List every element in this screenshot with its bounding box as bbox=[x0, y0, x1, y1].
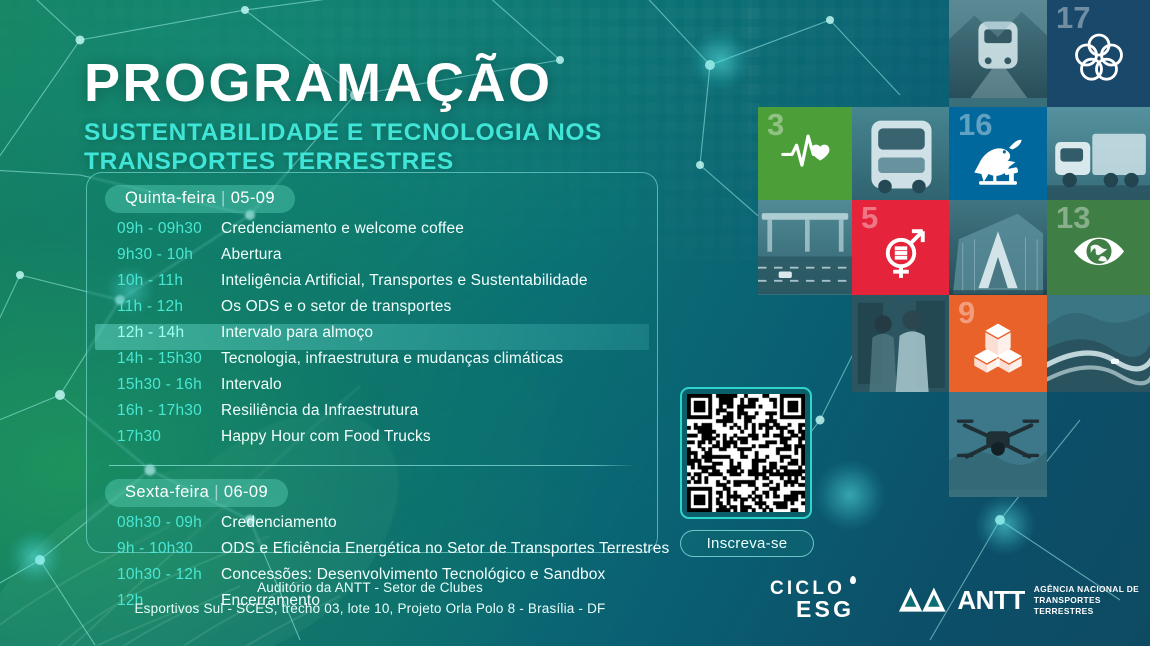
pill-separator: | bbox=[216, 189, 231, 207]
session-time: 11h - 12h bbox=[117, 298, 221, 316]
session-title: Intervalo para almoço bbox=[221, 324, 373, 342]
session-time: 9h - 10h30 bbox=[117, 540, 221, 558]
session-time: 10h - 11h bbox=[117, 272, 221, 290]
session-time: 14h - 15h30 bbox=[117, 350, 221, 368]
venue-address: Auditório da ANTT - Setor de Clubes Espo… bbox=[70, 578, 670, 620]
antt-tagline: AGÊNCIA NACIONAL DE TRANSPORTES TERRESTR… bbox=[1034, 584, 1150, 616]
session-title: Resiliência da Infraestrutura bbox=[221, 402, 418, 420]
venue-line-2: Esportivos Sul - SCES, trecho 03, lote 1… bbox=[70, 599, 670, 620]
antt-tagline-2: TRANSPORTES TERRESTRES bbox=[1034, 595, 1150, 617]
session-title: Abertura bbox=[221, 246, 282, 264]
poster-canvas: 173165139 PROGRAMAÇÃO SUSTENTABILIDADE e… bbox=[0, 0, 1150, 646]
session-time: 9h30 - 10h bbox=[117, 246, 221, 264]
day-date: 06-09 bbox=[224, 483, 268, 501]
session-time: 17h30 bbox=[117, 428, 221, 446]
session-time: 12h - 14h bbox=[117, 324, 221, 342]
esg-word: ESG bbox=[770, 598, 854, 620]
schedule-card: Quinta-feira|05-0909h - 09h30Credenciame… bbox=[86, 172, 658, 553]
session-time: 09h - 09h30 bbox=[117, 220, 221, 238]
schedule-row: 17h30Happy Hour com Food Trucks bbox=[105, 428, 639, 454]
signup-block: Inscreva-se bbox=[680, 387, 820, 557]
antt-logo: ANTT AGÊNCIA NACIONAL DE TRANSPORTES TER… bbox=[898, 583, 1150, 617]
schedule-row: 9h - 10h30ODS e Eficiência Energética no… bbox=[105, 540, 639, 566]
session-title: ODS e Eficiência Energética no Setor de … bbox=[221, 540, 669, 558]
day-date: 05-09 bbox=[231, 189, 275, 207]
session-time: 16h - 17h30 bbox=[117, 402, 221, 420]
schedule-row: 12h - 14hIntervalo para almoço bbox=[95, 324, 649, 350]
schedule-row: 16h - 17h30Resiliência da Infraestrutura bbox=[105, 402, 639, 428]
schedule-row: 09h - 09h30Credenciamento e welcome coff… bbox=[105, 220, 639, 246]
schedule-row: 15h30 - 16hIntervalo bbox=[105, 376, 639, 402]
session-time: 08h30 - 09h bbox=[117, 514, 221, 532]
day-label: Sexta-feira bbox=[125, 483, 209, 501]
session-time: 15h30 - 16h bbox=[117, 376, 221, 394]
schedule-rows: 09h - 09h30Credenciamento e welcome coff… bbox=[105, 220, 639, 454]
ciclo-line-1: CICLO bbox=[770, 580, 854, 598]
schedule-row: 11h - 12hOs ODS e o setor de transportes bbox=[105, 298, 639, 324]
schedule-row: 14h - 15h30Tecnologia, infraestrutura e … bbox=[105, 350, 639, 376]
schedule-row: 10h - 11hInteligência Artificial, Transp… bbox=[105, 272, 639, 298]
session-title: Happy Hour com Food Trucks bbox=[221, 428, 431, 446]
schedule-row: 9h30 - 10hAbertura bbox=[105, 246, 639, 272]
antt-triangle-icon bbox=[898, 583, 948, 617]
page-title: PROGRAMAÇÃO bbox=[84, 56, 602, 110]
session-title: Tecnologia, infraestrutura e mudanças cl… bbox=[221, 350, 563, 368]
subscribe-button[interactable]: Inscreva-se bbox=[680, 530, 814, 557]
antt-wordmark: ANTT bbox=[957, 585, 1024, 616]
subtitle-line-1: SUSTENTABILIDADE e TECNOLOGIA NOS bbox=[84, 119, 602, 148]
schedule-row: 08h30 - 09hCredenciamento bbox=[105, 514, 639, 540]
day-pill-1: Quinta-feira|05-09 bbox=[105, 185, 295, 213]
day-pill-2: Sexta-feira|06-09 bbox=[105, 479, 288, 507]
session-title: Credenciamento e welcome coffee bbox=[221, 220, 464, 238]
poster-heading: PROGRAMAÇÃO SUSTENTABILIDADE e TECNOLOGI… bbox=[84, 56, 602, 177]
venue-line-1: Auditório da ANTT - Setor de Clubes bbox=[70, 578, 670, 599]
antt-tagline-1: AGÊNCIA NACIONAL DE bbox=[1034, 584, 1150, 595]
section-divider bbox=[109, 465, 635, 466]
pill-separator: | bbox=[209, 483, 224, 501]
session-title: Os ODS e o setor de transportes bbox=[221, 298, 451, 316]
qr-code[interactable] bbox=[687, 394, 805, 512]
page-subtitle: SUSTENTABILIDADE e TECNOLOGIA NOS TRANSP… bbox=[84, 119, 602, 177]
session-title: Intervalo bbox=[221, 376, 282, 394]
ciclo-esg-logo: CICLO ESG bbox=[770, 580, 854, 620]
leaf-dot-icon bbox=[850, 576, 856, 584]
qr-code-frame[interactable] bbox=[680, 387, 812, 519]
session-title: Credenciamento bbox=[221, 514, 337, 532]
brand-row: CICLO ESG ANTT AGÊNCIA NACIONAL DE TRANS… bbox=[770, 580, 1150, 620]
session-title: Inteligência Artificial, Transportes e S… bbox=[221, 272, 588, 290]
day-label: Quinta-feira bbox=[125, 189, 216, 207]
ciclo-word: CICLO bbox=[770, 578, 845, 599]
